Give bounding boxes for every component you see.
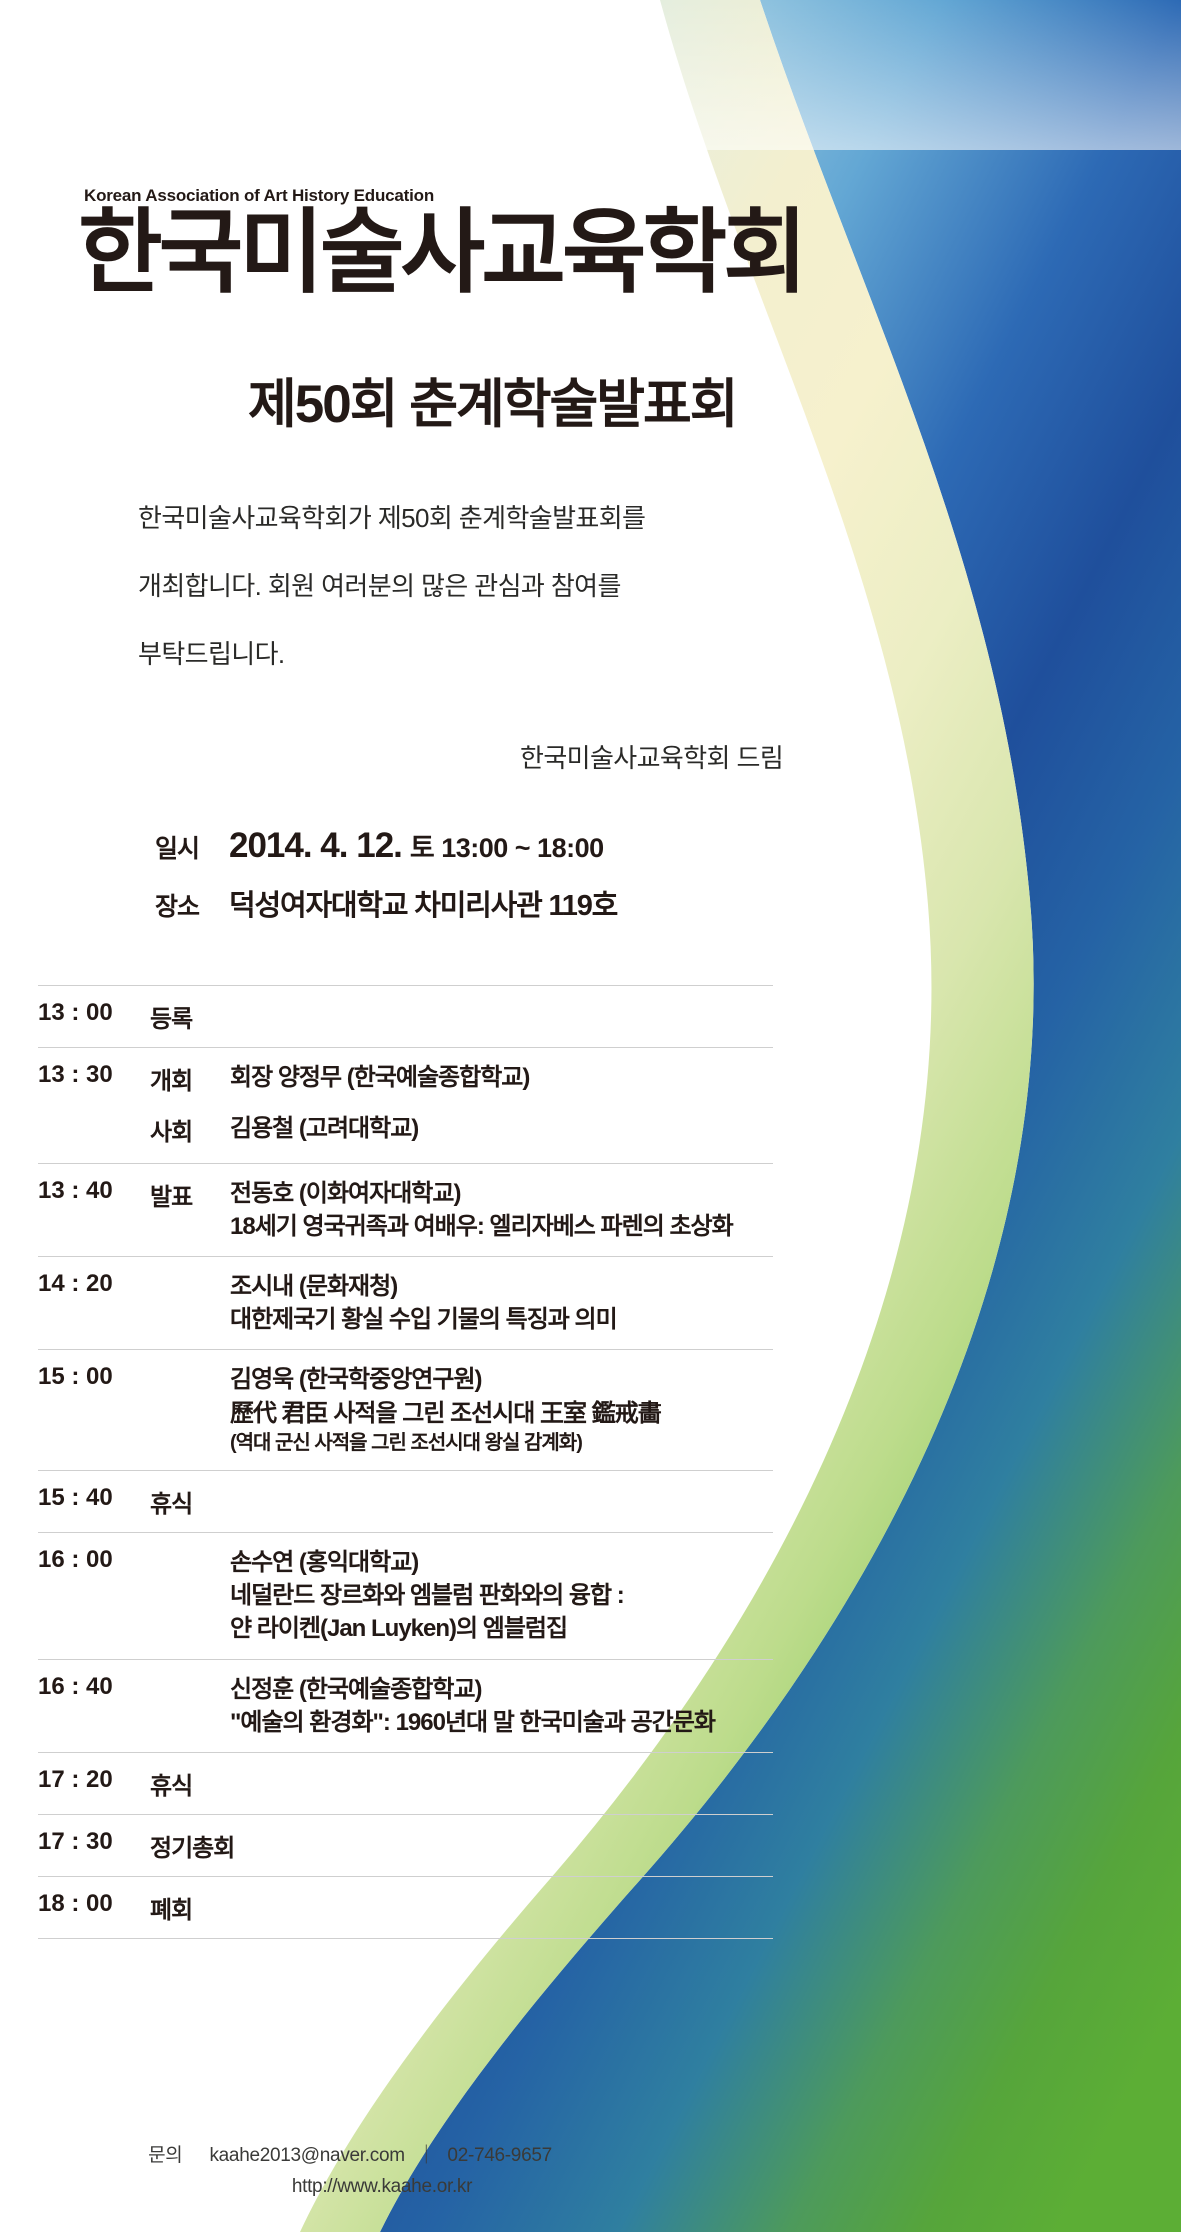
schedule-row: 17 : 20휴식 [38,1752,773,1814]
schedule-speaker: 전동호 (이화여자대학교) [230,1177,773,1210]
schedule-detail: 신정훈 (한국예술종합학교)"예술의 환경화": 1960년대 말 한국미술과 … [230,1673,773,1739]
event-title: 제50회 춘계학술발표회 [248,362,737,438]
schedule-paper-title: 歷代 君臣 사적을 그린 조선시대 王室 鑑戒畵 [230,1397,773,1430]
event-date-label: 일시 [155,829,229,865]
schedule-paper-title: 네덜란드 장르화와 엠블럼 판화와의 융합 : [230,1579,773,1612]
event-meta-block: 일시 2014. 4. 12. 토 13:00 ~ 18:00 장소 덕성여자대… [155,826,617,940]
schedule-detail: 손수연 (홍익대학교)네덜란드 장르화와 엠블럼 판화와의 융합 :얀 라이켄(… [230,1546,773,1645]
schedule-time: 15 : 00 [38,1363,150,1391]
schedule-detail: 김용철 (고려대학교) [230,1112,773,1145]
schedule-detail: 전동호 (이화여자대학교)18세기 영국귀족과 여배우: 엘리자베스 파렌의 초… [230,1177,773,1243]
schedule-time: 14 : 20 [38,1270,150,1298]
schedule-paper-title: 대한제국기 황실 수입 기물의 특징과 의미 [230,1303,773,1336]
schedule-row: 16 : 00손수연 (홍익대학교)네덜란드 장르화와 엠블럼 판화와의 융합 … [38,1532,773,1658]
event-place-value: 덕성여자대학교 차미리사관 119호 [229,882,617,924]
schedule-row: 13 : 30개회회장 양정무 (한국예술종합학교) [38,1047,773,1109]
contact-line: 문의 kaahe2013@naver.com ｜ 02-746-9657 [0,2140,700,2167]
schedule-row: 15 : 00김영욱 (한국학중앙연구원)歷代 君臣 사적을 그린 조선시대 王… [38,1349,773,1470]
schedule-row: 사회김용철 (고려대학교) [38,1109,773,1163]
contact-phone: 02-746-9657 [447,2145,551,2166]
schedule-speaker: 김영욱 (한국학중앙연구원) [230,1363,773,1396]
schedule-row: 16 : 40신정훈 (한국예술종합학교)"예술의 환경화": 1960년대 말… [38,1659,773,1752]
schedule-detail: 김영욱 (한국학중앙연구원)歷代 君臣 사적을 그린 조선시대 王室 鑑戒畵(역… [230,1363,773,1457]
schedule-row: 18 : 00폐회 [38,1876,773,1939]
schedule-time: 17 : 30 [38,1828,150,1856]
invitation-paragraph: 한국미술사교육학회가 제50회 춘계학술발표회를 개최합니다. 회원 여러분의 … [138,505,858,709]
schedule-time: 13 : 00 [38,999,150,1027]
schedule-time: 15 : 40 [38,1484,150,1512]
schedule-row: 15 : 40휴식 [38,1470,773,1532]
schedule-kind: 개회 [150,1061,230,1096]
website-line: http://www.kaahe.or.kr [0,2176,700,2198]
poster-content: Korean Association of Art History Educat… [0,0,1181,2232]
invitation-line-2: 개최합니다. 회원 여러분의 많은 관심과 참여를 [138,573,858,599]
schedule-detail: 조시내 (문화재청)대한제국기 황실 수입 기물의 특징과 의미 [230,1270,773,1336]
schedule-kind: 발표 [150,1177,230,1212]
schedule-time: 13 : 40 [38,1177,150,1205]
website-url[interactable]: http://www.kaahe.or.kr [292,2176,472,2197]
schedule-speaker: 신정훈 (한국예술종합학교) [230,1673,773,1706]
poster-root: Korean Association of Art History Educat… [0,0,1181,2232]
event-date-value: 2014. 4. 12. [229,826,402,866]
schedule-kind: 사회 [150,1112,230,1147]
schedule-kind: 폐회 [150,1890,230,1925]
schedule-paper-subtitle: (역대 군신 사적을 그린 조선시대 왕실 감계화) [230,1430,773,1458]
schedule-row: 13 : 40발표전동호 (이화여자대학교)18세기 영국귀족과 여배우: 엘리… [38,1163,773,1256]
event-time-value: 토 13:00 ~ 18:00 [410,826,604,865]
contact-email[interactable]: kaahe2013@naver.com [209,2145,404,2166]
schedule-speaker: 손수연 (홍익대학교) [230,1546,773,1579]
schedule-paper-title: 얀 라이켄(Jan Luyken)의 엠블럼집 [230,1612,773,1645]
schedule-time: 13 : 30 [38,1061,150,1089]
schedule-kind: 휴식 [150,1484,230,1519]
schedule-time: 17 : 20 [38,1766,150,1794]
poster-footer: 문의 kaahe2013@naver.com ｜ 02-746-9657 htt… [0,2140,700,2198]
schedule-time: 16 : 40 [38,1673,150,1701]
event-place-row: 장소 덕성여자대학교 차미리사관 119호 [155,882,617,924]
schedule-speaker: 회장 양정무 (한국예술종합학교) [230,1061,773,1094]
invitation-signature: 한국미술사교육학회 드림 [520,738,783,775]
schedule-kind: 정기총회 [150,1828,230,1863]
schedule-row: 14 : 20조시내 (문화재청)대한제국기 황실 수입 기물의 특징과 의미 [38,1256,773,1349]
event-place-label: 장소 [155,887,229,923]
association-korean-name: 한국미술사교육학회 [78,205,804,302]
schedule-time: 18 : 00 [38,1890,150,1918]
schedule-paper-title: "예술의 환경화": 1960년대 말 한국미술과 공간문화 [230,1706,773,1739]
event-date-row: 일시 2014. 4. 12. 토 13:00 ~ 18:00 [155,826,617,866]
contact-separator: ｜ [417,2145,436,2166]
schedule-kind: 휴식 [150,1766,230,1801]
schedule-time: 16 : 00 [38,1546,150,1574]
schedule-speaker: 조시내 (문화재청) [230,1270,773,1303]
schedule-detail: 회장 양정무 (한국예술종합학교) [230,1061,773,1094]
invitation-line-3: 부탁드립니다. [138,641,858,667]
schedule-speaker: 김용철 (고려대학교) [230,1112,773,1145]
schedule-row: 13 : 00등록 [38,985,773,1047]
schedule-row: 17 : 30정기총회 [38,1814,773,1876]
contact-label: 문의 [148,2145,182,2166]
invitation-line-1: 한국미술사교육학회가 제50회 춘계학술발표회를 [138,505,858,531]
schedule-table: 13 : 00등록13 : 30개회회장 양정무 (한국예술종합학교)사회김용철… [38,985,773,1939]
schedule-paper-title: 18세기 영국귀족과 여배우: 엘리자베스 파렌의 초상화 [230,1210,773,1243]
schedule-kind: 등록 [150,999,230,1034]
